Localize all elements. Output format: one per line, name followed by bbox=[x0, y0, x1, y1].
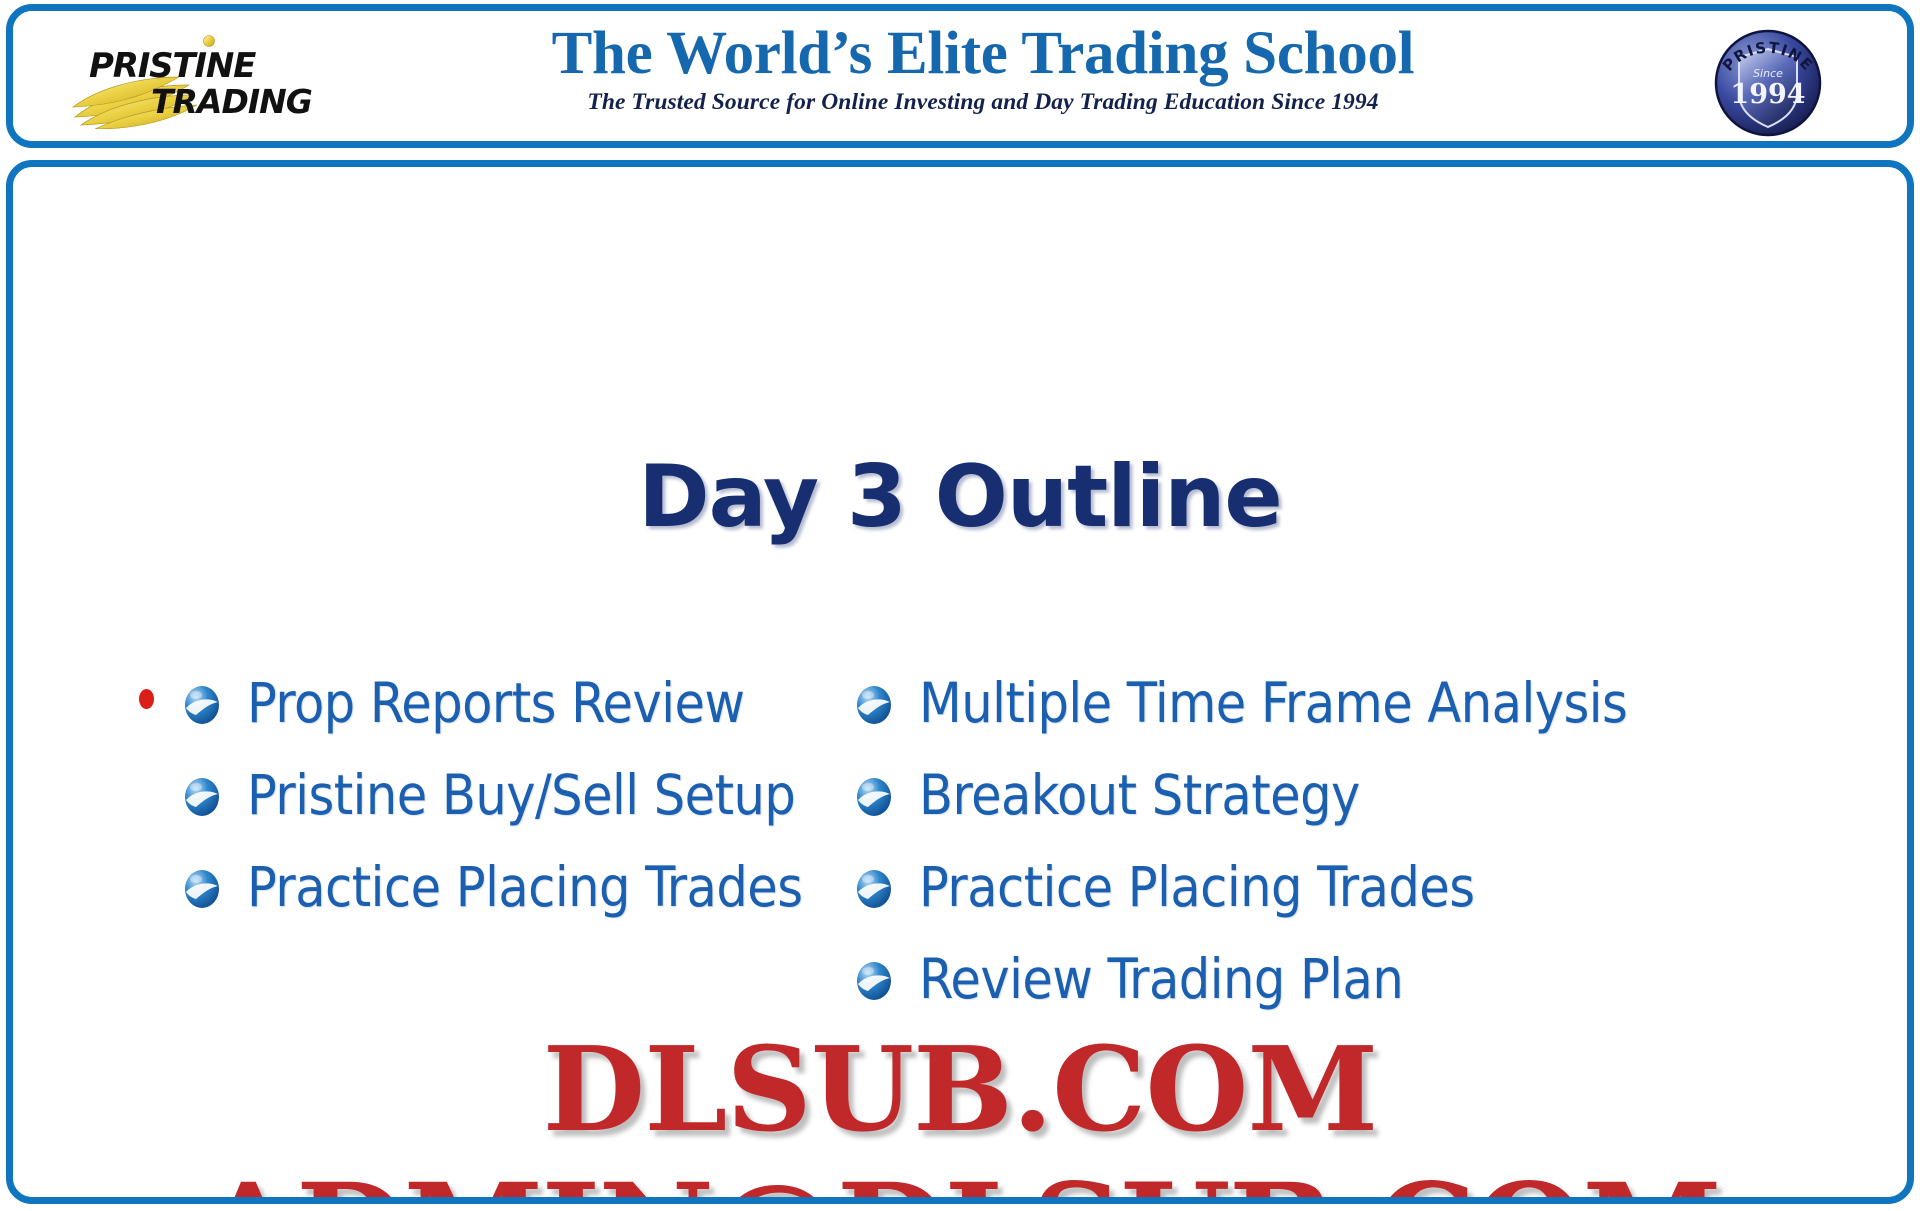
pristine-seal-icon: Since 1994 PRISTINE bbox=[1707, 23, 1829, 143]
seal-year-text: 1994 bbox=[1730, 79, 1805, 110]
list-item[interactable]: Prop Reports Review bbox=[181, 657, 843, 749]
header-text-block: The World’s Elite Trading School The Tru… bbox=[393, 23, 1573, 116]
globe-bullet-icon bbox=[853, 868, 895, 910]
list-item-label: Prop Reports Review bbox=[247, 676, 744, 731]
list-item-label: Breakout Strategy bbox=[919, 768, 1360, 823]
watermark-site: DLSUB.COM bbox=[6, 1022, 1914, 1158]
globe-bullet-icon bbox=[853, 776, 895, 818]
red-marker-dot bbox=[139, 689, 154, 709]
list-item-label: Review Trading Plan bbox=[919, 952, 1403, 1007]
list-item[interactable]: Practice Placing Trades bbox=[181, 841, 843, 933]
list-item[interactable]: Pristine Buy/Sell Setup bbox=[181, 749, 843, 841]
outline-column-left: Prop Reports Review Pristine Buy/Sell Se… bbox=[13, 657, 843, 1025]
header-tagline: The Trusted Source for Online Investing … bbox=[393, 89, 1573, 116]
header-title: The World’s Elite Trading School bbox=[393, 23, 1573, 85]
presentation-slide: PRISTINE TRADING The World’s Elite Tradi… bbox=[0, 0, 1920, 1211]
globe-bullet-icon bbox=[853, 684, 895, 726]
outline-column-right: Multiple Time Frame Analysis Breakout St… bbox=[843, 657, 1843, 1025]
list-item-label: Multiple Time Frame Analysis bbox=[919, 676, 1627, 731]
page-title: Day 3 Outline bbox=[13, 447, 1907, 547]
watermark-email: ADMIN@DLSUB.COM bbox=[6, 1157, 1914, 1204]
list-item[interactable]: Practice Placing Trades bbox=[853, 841, 1843, 933]
header-inner: PRISTINE TRADING The World’s Elite Tradi… bbox=[13, 11, 1907, 141]
list-item-label: Practice Placing Trades bbox=[247, 860, 803, 915]
globe-bullet-icon bbox=[181, 868, 223, 910]
pristine-trading-logo-icon: PRISTINE TRADING bbox=[71, 33, 321, 129]
list-item[interactable]: Review Trading Plan bbox=[853, 933, 1843, 1025]
globe-bullet-icon bbox=[853, 960, 895, 1002]
outline-columns: Prop Reports Review Pristine Buy/Sell Se… bbox=[13, 657, 1907, 1025]
list-item-label: Pristine Buy/Sell Setup bbox=[247, 768, 795, 823]
globe-bullet-icon bbox=[181, 684, 223, 726]
list-item-label: Practice Placing Trades bbox=[919, 860, 1475, 915]
list-item[interactable]: Multiple Time Frame Analysis bbox=[853, 657, 1843, 749]
brand-line1: PRISTINE bbox=[89, 46, 256, 86]
brand-line2: TRADING bbox=[151, 82, 312, 121]
slide-header: PRISTINE TRADING The World’s Elite Tradi… bbox=[6, 4, 1914, 148]
globe-bullet-icon bbox=[181, 776, 223, 818]
slide-body: Day 3 Outline bbox=[6, 160, 1914, 1204]
list-item[interactable]: Breakout Strategy bbox=[853, 749, 1843, 841]
